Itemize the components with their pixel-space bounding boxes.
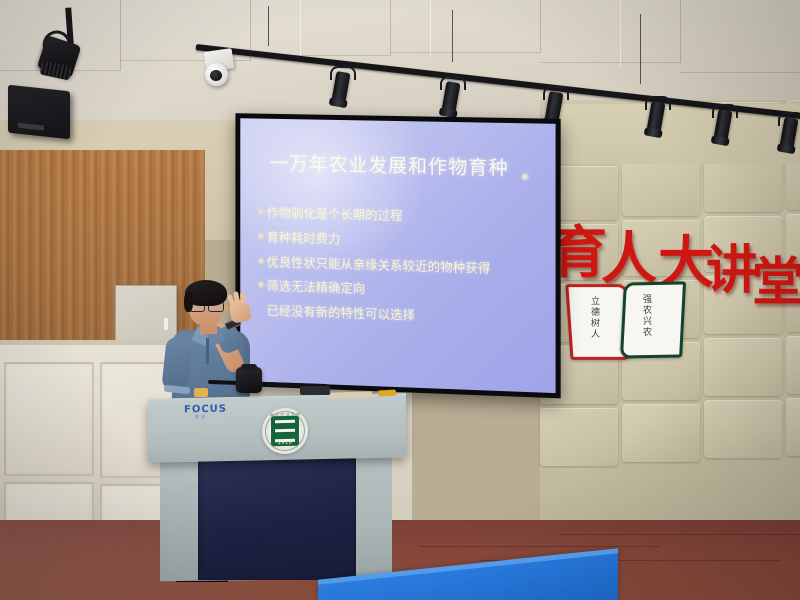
emblem-year: 1910 xyxy=(262,440,308,447)
speaker-box xyxy=(8,85,70,140)
book-right-text: 强农兴农 xyxy=(640,294,653,338)
bullet-marker-icon: ▪ xyxy=(258,204,267,220)
truss-wire-2 xyxy=(452,10,453,62)
projection-screen-frame: 一万年农业发展和作物育种 ▪ 作物驯化是个长期的过程 ▪ 育种耗时费力 ▪ 优良… xyxy=(235,113,560,398)
focus-brand-sub: 图 创 xyxy=(195,414,206,420)
podium-front-panel xyxy=(198,458,356,580)
lecture-hall-photo: 育 人 大 讲 堂 立德树人 强农兴农 xyxy=(0,0,800,600)
microphone-cap xyxy=(241,364,257,370)
truss-wire-3 xyxy=(640,14,641,84)
slide-bullet-3: ▪ 筛选无法精确定向 xyxy=(258,277,554,304)
slide-bullet-1: ▪ 育种耗时费力 xyxy=(258,228,554,254)
projection-screen: 一万年农业发展和作物育种 ▪ 作物驯化是个长期的过程 ▪ 育种耗时费力 ▪ 优良… xyxy=(240,118,555,393)
slide-bullet-2: ▪ 优良性状只能从亲缘关系较近的物种获得 xyxy=(258,253,554,279)
presenter-cuff xyxy=(164,385,191,395)
presenter-hand xyxy=(228,298,252,324)
wall-sign-char-3: 讲 xyxy=(706,228,758,303)
desk-item-laptop-edge xyxy=(300,386,330,395)
slide-bullet-0: ▪ 作物驯化是个长期的过程 xyxy=(258,204,554,229)
desk-item-marker xyxy=(378,390,396,397)
presenter-placket xyxy=(206,338,209,364)
bullet-marker-icon: ▪ xyxy=(258,253,267,269)
desk-item-cup xyxy=(194,388,208,397)
open-book-graphic: 立德树人 强农兴农 xyxy=(566,278,692,360)
slide-bullet-list: ▪ 作物驯化是个长期的过程 ▪ 育种耗时费力 ▪ 优良性状只能从亲缘关系较近的物… xyxy=(258,204,554,336)
podium-microphone xyxy=(236,367,262,393)
bullet-marker-icon: ▪ xyxy=(258,228,267,244)
wall-sign-char-4: 堂 xyxy=(752,240,800,315)
book-left-text: 立德树人 xyxy=(588,296,601,340)
slide-bullet-4: 已经没有新的特性可以选择 xyxy=(258,302,554,329)
truss-wire-1 xyxy=(268,6,269,46)
camera-lens-icon xyxy=(210,70,222,81)
presenter-hair-side xyxy=(184,292,193,312)
